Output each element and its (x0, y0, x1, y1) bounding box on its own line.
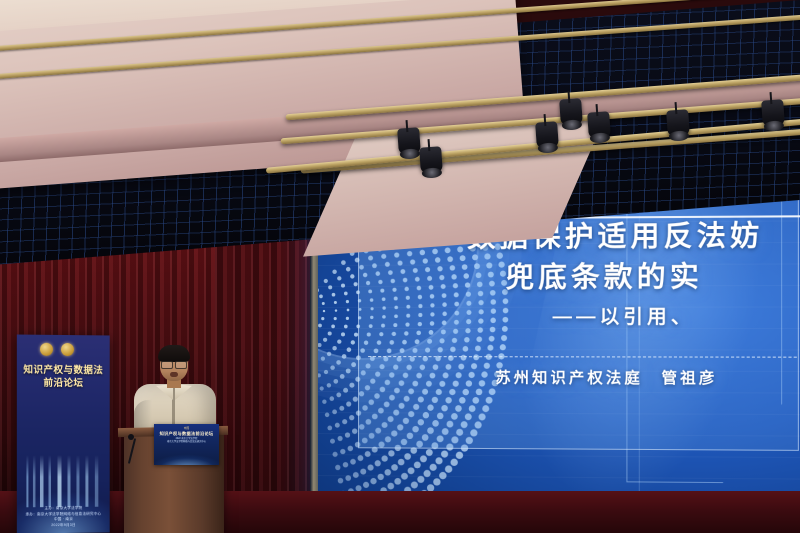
lamp-body (666, 109, 690, 136)
dotted-divider (368, 356, 797, 358)
slide-presenter-line: 苏州知识产权法庭 管祖彦 (495, 366, 717, 388)
podium-sign-top-line: 中国 (154, 426, 219, 430)
slide-subtitle-line: ——以引用、 (553, 301, 695, 329)
lamp-body (535, 121, 559, 148)
speaker-mouth (170, 372, 178, 377)
podium-sign-sub-lines: 2022 南京大学法学院 南京大学法学院网络与信息法研究中心 (154, 438, 219, 444)
podium-sign-title: 知识产权与数据法前沿论坛 (154, 431, 219, 437)
banner-footer-line: 2022年9月3日 (17, 522, 110, 528)
city-skyline-light-graphic (23, 455, 105, 507)
banner-title: 知识产权与数据法 前沿论坛 (17, 364, 110, 391)
lamp-body (559, 98, 583, 125)
par-can-light (587, 111, 611, 138)
banner-footer: 主办：南京大学法学院 承办：南京大学法学院网络与信息法研究中心 中国 · 南京 … (17, 506, 110, 528)
lamp-body (587, 111, 611, 138)
university-emblem-icon (40, 343, 53, 356)
lamp-body (397, 127, 421, 154)
par-can-light (419, 146, 443, 173)
par-can-light (761, 99, 785, 126)
par-can-light (535, 121, 559, 148)
university-emblem-icon (61, 343, 74, 356)
speaker-hair (158, 345, 190, 362)
lamp-body (761, 99, 785, 126)
podium-sign-glow (154, 443, 219, 465)
stage-floor (0, 491, 800, 533)
podium-sign: 中国 知识产权与数据法前沿论坛 2022 南京大学法学院 南京大学法学院网络与信… (154, 424, 219, 465)
roll-up-banner: 知识产权与数据法 前沿论坛 主办：南京大学法学院 承办：南京大学法学院网络与信息… (17, 335, 110, 533)
screenshot-root: 数据保护适用反法妨 兜底条款的实 ——以引用、 苏州知识产权法庭 管祖彦 (0, 0, 800, 533)
par-can-light (559, 98, 583, 125)
podium-sign-sub-line: 南京大学法学院网络与信息法研究中心 (154, 441, 219, 444)
lamp-body (419, 146, 443, 173)
slide-title-line-2: 兜底条款的实 (506, 255, 703, 296)
banner-title-line-1: 知识产权与数据法 (17, 364, 110, 378)
glasses-icon (161, 361, 187, 367)
par-can-light (666, 109, 690, 136)
microphone-head-icon (128, 434, 134, 440)
banner-title-line-2: 前沿论坛 (17, 377, 110, 390)
par-can-light (397, 127, 421, 154)
